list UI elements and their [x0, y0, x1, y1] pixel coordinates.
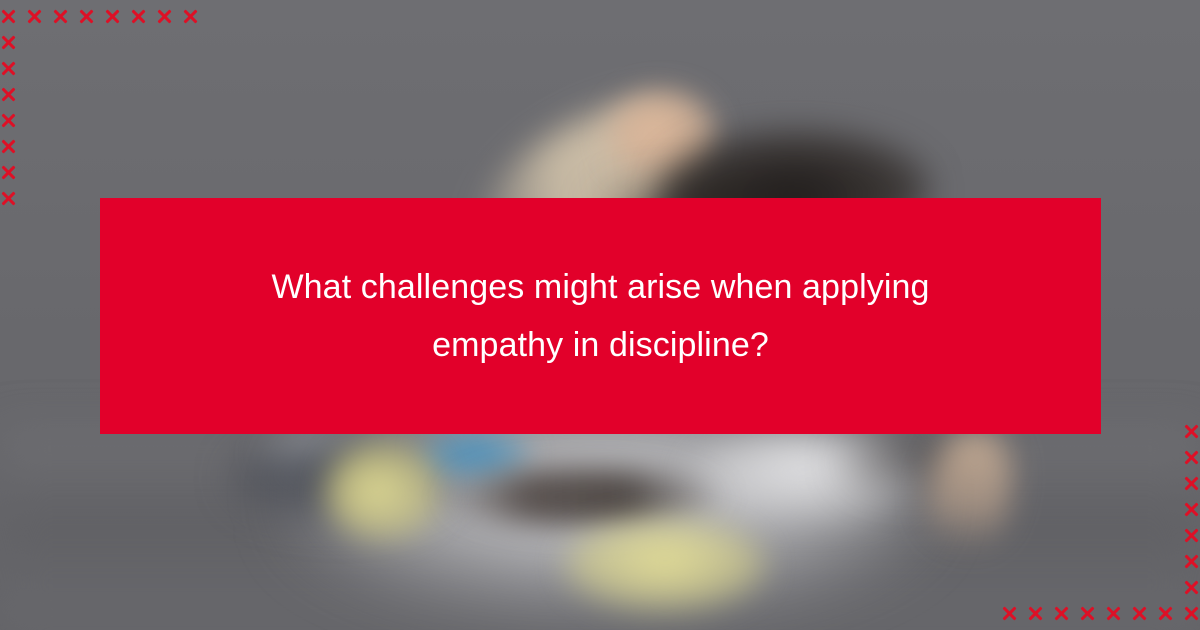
photo-leg-shadow — [440, 468, 730, 526]
question-text: What challenges might arise when applyin… — [271, 258, 929, 374]
question-banner: What challenges might arise when applyin… — [100, 198, 1101, 434]
question-card: What challenges might arise when applyin… — [0, 0, 1200, 630]
photo-shoe-bottom — [565, 520, 765, 610]
photo-shoe-left — [325, 440, 440, 540]
